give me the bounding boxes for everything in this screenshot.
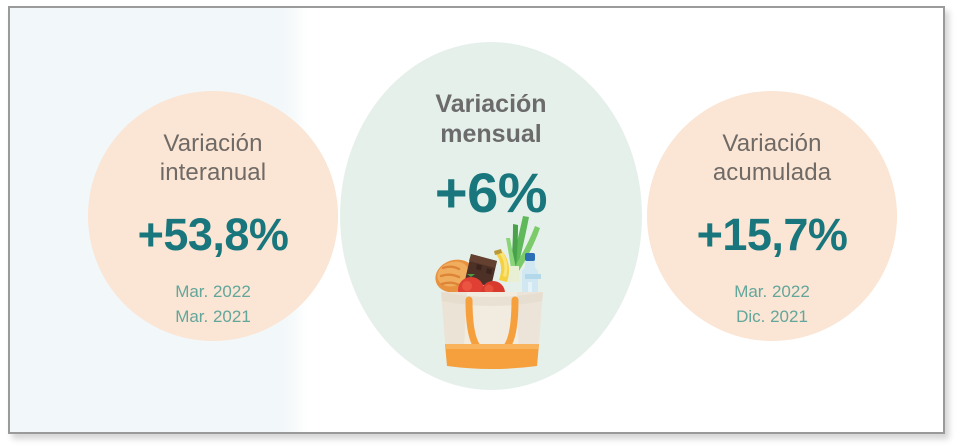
heading-acumulada: Variación acumulada (647, 129, 897, 188)
panel-mensual: Variación mensual +6% (340, 42, 642, 221)
slide-frame: Variación interanual +53,8% Mar. 2022 Ma… (8, 6, 945, 434)
slide-canvas: Variación interanual +53,8% Mar. 2022 Ma… (10, 8, 943, 432)
heading-mensual-line1: Variación (340, 90, 642, 120)
heading-interanual: Variación interanual (88, 129, 338, 188)
panel-acumulada: Variación acumulada +15,7% Mar. 2022 Dic… (647, 91, 897, 330)
heading-mensual: Variación mensual (340, 90, 642, 149)
heading-acumulada-line2: acumulada (647, 158, 897, 187)
bag-bottom-band (445, 344, 539, 369)
value-acumulada: +15,7% (647, 212, 897, 257)
date-interanual-to: Mar. 2021 (88, 304, 338, 330)
value-interanual: +53,8% (88, 212, 338, 257)
heading-interanual-line1: Variación (88, 129, 338, 158)
heading-interanual-line2: interanual (88, 158, 338, 187)
date-interanual-from: Mar. 2022 (88, 279, 338, 305)
date-acumulada-from: Mar. 2022 (647, 279, 897, 305)
banana (494, 249, 509, 282)
heading-acumulada-line1: Variación (647, 129, 897, 158)
panel-interanual: Variación interanual +53,8% Mar. 2022 Ma… (88, 91, 338, 330)
shopping-bag-icon (427, 204, 557, 374)
heading-mensual-line2: mensual (340, 120, 642, 150)
dates-acumulada: Mar. 2022 Dic. 2021 (647, 279, 897, 330)
date-acumulada-to: Dic. 2021 (647, 304, 897, 330)
dates-interanual: Mar. 2022 Mar. 2021 (88, 279, 338, 330)
